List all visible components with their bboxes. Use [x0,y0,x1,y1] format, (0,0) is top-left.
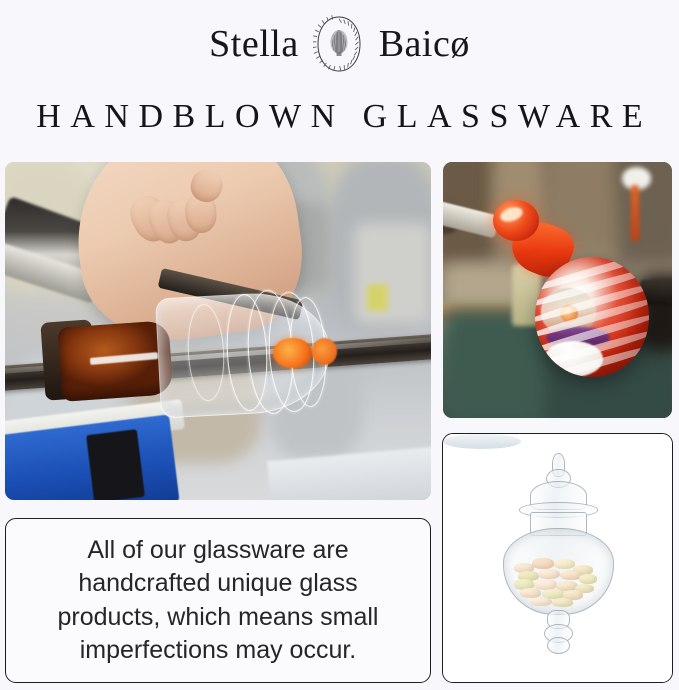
disclaimer-text: All of our glassware are handcrafted uni… [6,519,430,682]
photo-apothecary-candy-jar [442,433,673,683]
disclaimer-panel: All of our glassware are handcrafted uni… [5,518,431,683]
photo-red-spiral-glass-ball [443,162,672,418]
page-title: HANDBLOWN GLASSWARE [0,98,679,136]
red-glass-ball [535,257,650,377]
candy [554,559,574,569]
scalloped-oval-leaf-emblem-icon [313,15,365,73]
bg-blur-shape [354,223,431,324]
brand-word-left: Stella [209,25,299,63]
glowing-orange-core [312,338,338,365]
candy [579,574,597,583]
product-infographic: Stella Baicø HANDBLOWN GLASSWARE [0,0,679,690]
brand-lockup: Stella Baicø [0,14,679,74]
disclaimer-line-3: products, which means small [58,601,379,635]
jar-body [503,528,615,614]
candy [538,569,560,580]
disclaimer-line-1: All of our glassware are [87,534,348,568]
candy-fill [508,544,609,611]
candy [552,598,572,607]
candy [530,597,552,606]
glowing-orange-core [273,338,311,368]
bg-yellow-accent [367,284,388,311]
brand-word-right: Baicø [379,25,470,63]
candy [532,558,554,569]
disclaimer-line-4: imperfections may occur. [80,634,357,668]
jar-scene [443,434,672,682]
jar-foot [443,434,521,449]
bench-bracket [86,430,145,500]
hanging-rod [631,185,639,241]
photo-glassblowing-hand-shaping [5,162,431,500]
disclaimer-line-2: handcrafted unique glass [78,567,357,601]
jar-stem-knob [547,637,570,654]
